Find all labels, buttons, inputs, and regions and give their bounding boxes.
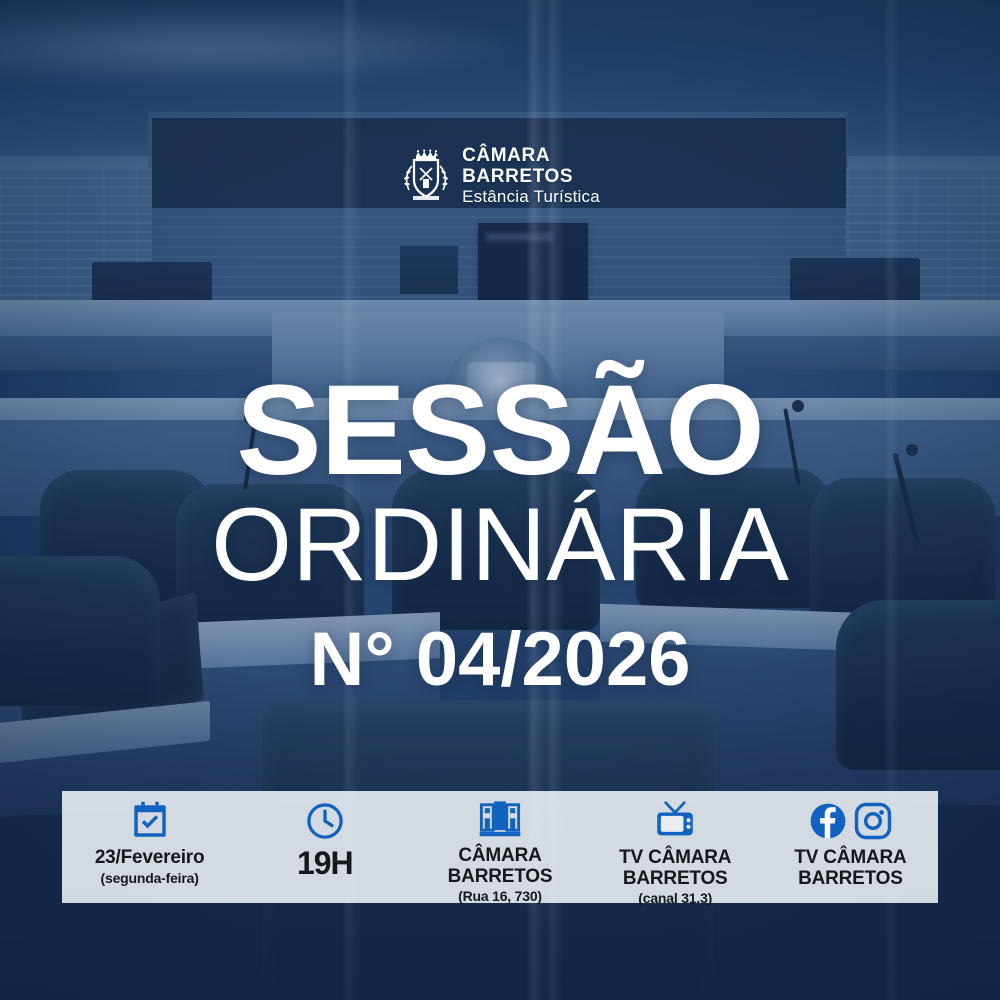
info-item-social: TV CÂMARA BARRETOS: [763, 791, 938, 903]
social-name-line-1: TV CÂMARA: [794, 848, 906, 869]
government-building-icon: [478, 799, 522, 841]
venue-name-line-1: CÂMARA: [458, 846, 541, 867]
info-item-tv: TV CÂMARA BARRETOS (canal 31.3): [588, 791, 763, 903]
tv-channel: (canal 31.3): [638, 891, 712, 906]
social-name-line-2: BARRETOS: [798, 869, 903, 890]
session-announcement-poster: CÂMARA BARRETOS Estância Turística SESSÃ…: [0, 0, 1000, 1000]
info-item-venue: CÂMARA BARRETOS (Rua 16, 730): [412, 791, 587, 903]
brand-logo: CÂMARA BARRETOS Estância Turística: [0, 146, 1000, 205]
television-icon: [653, 799, 697, 843]
info-item-time: 19H: [237, 791, 412, 903]
coat-of-arms-shield-icon: [400, 148, 452, 204]
date-value: 23/Fevereiro: [95, 848, 205, 869]
info-item-date: 23/Fevereiro (segunda-feira): [62, 791, 237, 903]
time-value: 19H: [297, 846, 353, 881]
venue-name-line-2: BARRETOS: [448, 867, 553, 888]
brand-line-2: BARRETOS: [462, 167, 600, 186]
weekday-value: (segunda-feira): [101, 871, 199, 886]
social-icons: [809, 799, 892, 843]
brand-text: CÂMARA BARRETOS Estância Turística: [462, 146, 600, 205]
facebook-icon[interactable]: [809, 802, 847, 840]
session-number: N° 04/2026: [0, 622, 1000, 698]
instagram-icon[interactable]: [854, 802, 892, 840]
venue-address: (Rua 16, 730): [458, 889, 542, 904]
info-bar: 23/Fevereiro (segunda-feira) 19H: [62, 791, 938, 903]
headline-line-2: ORDINÁRIA: [0, 492, 1000, 598]
headline-line-1: SESSÃO: [0, 372, 1000, 490]
wall-monitor: [478, 223, 588, 311]
tv-name-line-1: TV CÂMARA: [619, 848, 731, 869]
brand-tagline: Estância Turística: [462, 188, 600, 205]
headline-block: SESSÃO ORDINÁRIA N° 04/2026: [0, 372, 1000, 698]
calendar-check-icon: [129, 799, 171, 843]
clock-icon: [304, 799, 346, 843]
tv-name-line-2: BARRETOS: [623, 869, 728, 890]
brand-line-1: CÂMARA: [462, 146, 600, 165]
